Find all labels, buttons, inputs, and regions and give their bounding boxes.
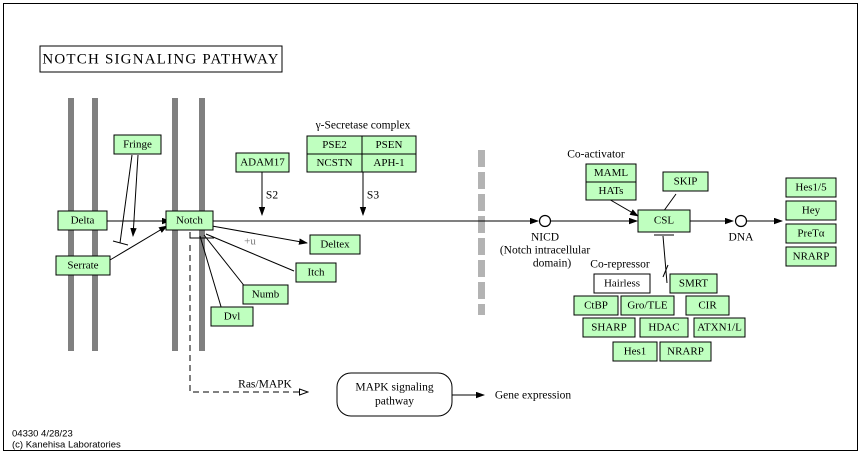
node-adam17-label: ADAM17 [240, 157, 285, 169]
mapk-pathway-label-1: MAPK signaling [355, 382, 434, 394]
node-skip-label: SKIP [674, 176, 698, 188]
footer-line-1: 04330 4/28/23 [12, 429, 73, 440]
node-cir-label: CIR [698, 300, 717, 312]
node-aph1-label: APH-1 [373, 157, 404, 169]
node-hairless-label: Hairless [604, 278, 640, 290]
nicd-label: NICD [531, 232, 559, 244]
notch-to-deltex-line [212, 226, 307, 243]
fringe-arrow [133, 155, 138, 236]
node-numb-label: Numb [252, 289, 280, 301]
node-maml-label: MAML [594, 167, 629, 179]
node-fringe-label: Fringe [123, 139, 152, 151]
coactivator-to-csl-arrow [607, 198, 638, 216]
node-hes1-repressor-label: Hes1 [624, 346, 647, 358]
node-serrate-label: Serrate [67, 260, 98, 272]
node-csl-label: CSL [654, 215, 674, 227]
node-grotle-label: Gro/TLE [627, 300, 668, 312]
footer-line-2: (c) Kanehisa Laboratories [12, 440, 121, 451]
numb-to-notch-line [204, 235, 246, 288]
coactivator-label: Co-activator [567, 149, 625, 161]
node-sharp-label: SHARP [591, 322, 626, 334]
node-ncstn-label: NCSTN [316, 157, 352, 169]
s2-label: S2 [266, 190, 278, 202]
node-pretalpha-label: PreTα [797, 228, 824, 240]
ubiquitin-label: +u [244, 236, 256, 248]
nicd-sublabel-2: domain) [533, 258, 571, 270]
node-pse2-label: PSE2 [322, 139, 346, 151]
node-ctbp-label: CtBP [584, 300, 608, 312]
node-smrt-label: SMRT [679, 278, 709, 290]
mapk-pathway-box[interactable] [337, 373, 452, 416]
node-delta-label: Delta [71, 215, 95, 227]
gamma-secretase-title: γ-Secretase complex [315, 120, 411, 132]
dna-label: DNA [729, 232, 755, 244]
gene-expression-label: Gene expression [495, 390, 572, 402]
node-hey-label: Hey [802, 205, 821, 217]
node-hes15-label: Hes1/5 [795, 182, 827, 194]
fringe-inhibit-line [120, 155, 132, 243]
pathway-svg: NOTCH SIGNALING PATHWAY [0, 0, 862, 455]
node-hats-label: HATs [599, 185, 624, 197]
node-dvl-label: Dvl [224, 311, 241, 323]
node-atxn1l-label: ATXN1/L [697, 322, 742, 334]
node-deltex-label: Deltex [320, 239, 350, 251]
nicd-node [540, 216, 551, 227]
node-nrarp-target-label: NRARP [793, 251, 830, 263]
serrate-to-notch-line [110, 226, 167, 260]
node-itch-label: Itch [307, 267, 325, 279]
node-hdac-label: HDAC [648, 322, 679, 334]
nicd-sublabel-1: (Notch intracellular [500, 245, 591, 257]
ras-mapk-label: Ras/MAPK [238, 379, 292, 391]
skip-to-csl-line [663, 194, 676, 212]
corepressor-label: Co-repressor [590, 259, 650, 271]
mapk-pathway-label-2: pathway [375, 396, 414, 408]
node-nrarp-repressor-label: NRARP [667, 346, 704, 358]
pathway-diagram: NOTCH SIGNALING PATHWAY [0, 0, 862, 455]
page-title: NOTCH SIGNALING PATHWAY [42, 51, 279, 67]
nuclear-membrane [478, 150, 485, 315]
node-notch-label: Notch [176, 215, 203, 227]
node-psen-label: PSEN [376, 139, 403, 151]
s3-label: S3 [367, 190, 379, 202]
dna-node [736, 216, 747, 227]
